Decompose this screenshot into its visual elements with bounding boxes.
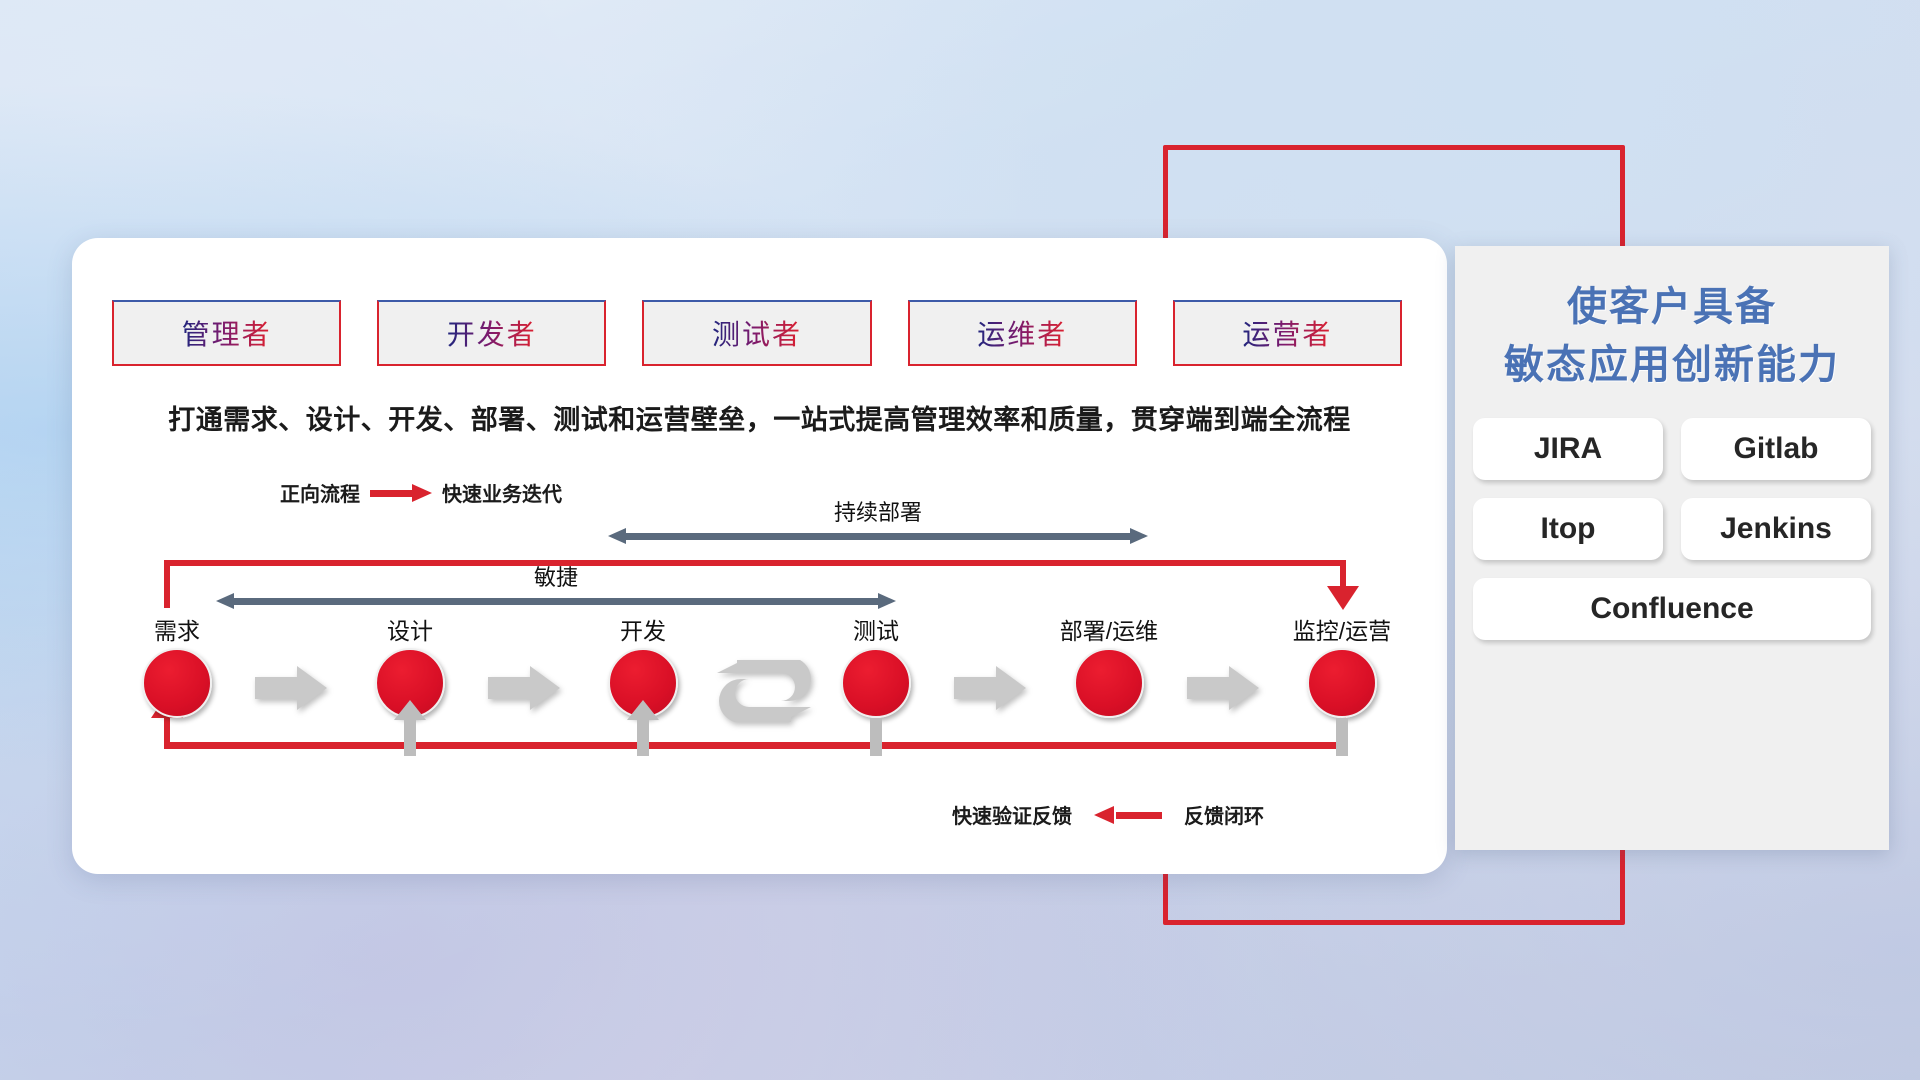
role-label: 管理者 bbox=[182, 313, 272, 353]
stage-development[interactable]: 开发 bbox=[578, 612, 708, 718]
arrow-bar bbox=[231, 598, 881, 605]
role-box-ops[interactable]: 运维者 bbox=[908, 300, 1137, 366]
role-box-operations[interactable]: 运营者 bbox=[1173, 300, 1402, 366]
stage-label: 监控/运营 bbox=[1277, 612, 1407, 646]
tool-chip-jenkins[interactable]: Jenkins bbox=[1681, 498, 1871, 560]
stage-dot bbox=[142, 648, 212, 718]
stage-label: 设计 bbox=[345, 612, 475, 646]
role-label: 开发者 bbox=[447, 313, 537, 353]
role-box-tester[interactable]: 测试者 bbox=[642, 300, 871, 366]
arrow-left-red-icon bbox=[1094, 806, 1162, 824]
stage-label: 测试 bbox=[811, 612, 941, 646]
stage-dot bbox=[841, 648, 911, 718]
arrow-right-gray-icon bbox=[954, 666, 1026, 710]
stage-dot bbox=[1074, 648, 1144, 718]
stage-requirements[interactable]: 需求 bbox=[112, 612, 242, 718]
tool-chip-confluence[interactable]: Confluence bbox=[1473, 578, 1871, 640]
tool-chip-itop[interactable]: Itop bbox=[1473, 498, 1663, 560]
tool-chip-list: JIRA Gitlab Itop Jenkins Confluence bbox=[1473, 418, 1871, 640]
tool-chip-gitlab[interactable]: Gitlab bbox=[1681, 418, 1871, 480]
panel-title-line-2: 敏态应用创新能力 bbox=[1455, 336, 1889, 394]
arrow-shaft bbox=[954, 677, 998, 699]
role-label: 运维者 bbox=[977, 313, 1067, 353]
stage-label: 需求 bbox=[112, 612, 242, 646]
arrow-head bbox=[996, 666, 1026, 710]
continuous-deployment-label: 持续部署 bbox=[608, 495, 1148, 527]
stage-riser bbox=[870, 718, 882, 756]
arrow-bar bbox=[623, 533, 1133, 540]
stage-riser bbox=[1336, 718, 1348, 756]
arrow-shaft bbox=[1187, 677, 1231, 699]
legend-feedback-to-label: 反馈闭环 bbox=[1184, 800, 1264, 829]
arrow-head-right-icon bbox=[878, 593, 896, 609]
description-text: 打通需求、设计、开发、部署、测试和运营壁垒，一站式提高管理效率和质量，贯穿端到端… bbox=[72, 398, 1447, 437]
arrow-head bbox=[297, 666, 327, 710]
stage-design[interactable]: 设计 bbox=[345, 612, 475, 718]
value-proposition-panel: 使客户具备 敏态应用创新能力 JIRA Gitlab Itop Jenkins … bbox=[1455, 246, 1889, 850]
arrow-head bbox=[1229, 666, 1259, 710]
legend-feedback-loop: 快速验证反馈 反馈闭环 bbox=[952, 800, 1264, 829]
agile-label: 敏捷 bbox=[216, 560, 896, 592]
legend-forward-to-label: 快速业务迭代 bbox=[442, 478, 562, 507]
panel-title: 使客户具备 敏态应用创新能力 bbox=[1455, 278, 1889, 394]
feedback-loop-top-left-riser bbox=[164, 560, 170, 608]
stage-riser-arrow-icon bbox=[637, 718, 649, 756]
legend-feedback-from-label: 快速验证反馈 bbox=[952, 800, 1072, 829]
legend-forward-from-label: 正向流程 bbox=[280, 478, 360, 507]
role-label: 运营者 bbox=[1242, 313, 1332, 353]
arrow-right-gray-icon bbox=[488, 666, 560, 710]
agile-double-arrow-icon bbox=[216, 593, 896, 609]
stage-label: 开发 bbox=[578, 612, 708, 646]
stage-dot bbox=[1307, 648, 1377, 718]
role-box-row: 管理者 开发者 测试者 运维者 运营者 bbox=[112, 300, 1402, 366]
arrow-head-right-icon bbox=[1130, 528, 1148, 544]
arrow-right-gray-icon bbox=[1187, 666, 1259, 710]
arrow-right-gray-icon bbox=[255, 666, 327, 710]
arrow-shaft bbox=[488, 677, 532, 699]
stage-deploy-ops[interactable]: 部署/运维 bbox=[1044, 612, 1174, 718]
panel-title-line-1: 使客户具备 bbox=[1455, 278, 1889, 336]
arrow-shaft bbox=[255, 677, 299, 699]
cycle-arrow-icon bbox=[715, 660, 815, 722]
role-box-manager[interactable]: 管理者 bbox=[112, 300, 341, 366]
stage-monitor-operations[interactable]: 监控/运营 bbox=[1277, 612, 1407, 718]
stage-testing[interactable]: 测试 bbox=[811, 612, 941, 718]
role-label: 测试者 bbox=[712, 313, 802, 353]
role-box-developer[interactable]: 开发者 bbox=[377, 300, 606, 366]
stage-riser-arrow-icon bbox=[404, 718, 416, 756]
arrow-head bbox=[530, 666, 560, 710]
tool-chip-jira[interactable]: JIRA bbox=[1473, 418, 1663, 480]
stage-label: 部署/运维 bbox=[1044, 612, 1174, 646]
legend-forward-flow: 正向流程 快速业务迭代 bbox=[280, 478, 562, 507]
arrow-down-red-icon bbox=[1327, 586, 1359, 610]
arrow-right-red-icon bbox=[370, 484, 432, 502]
continuous-deployment-double-arrow-icon bbox=[608, 528, 1148, 544]
